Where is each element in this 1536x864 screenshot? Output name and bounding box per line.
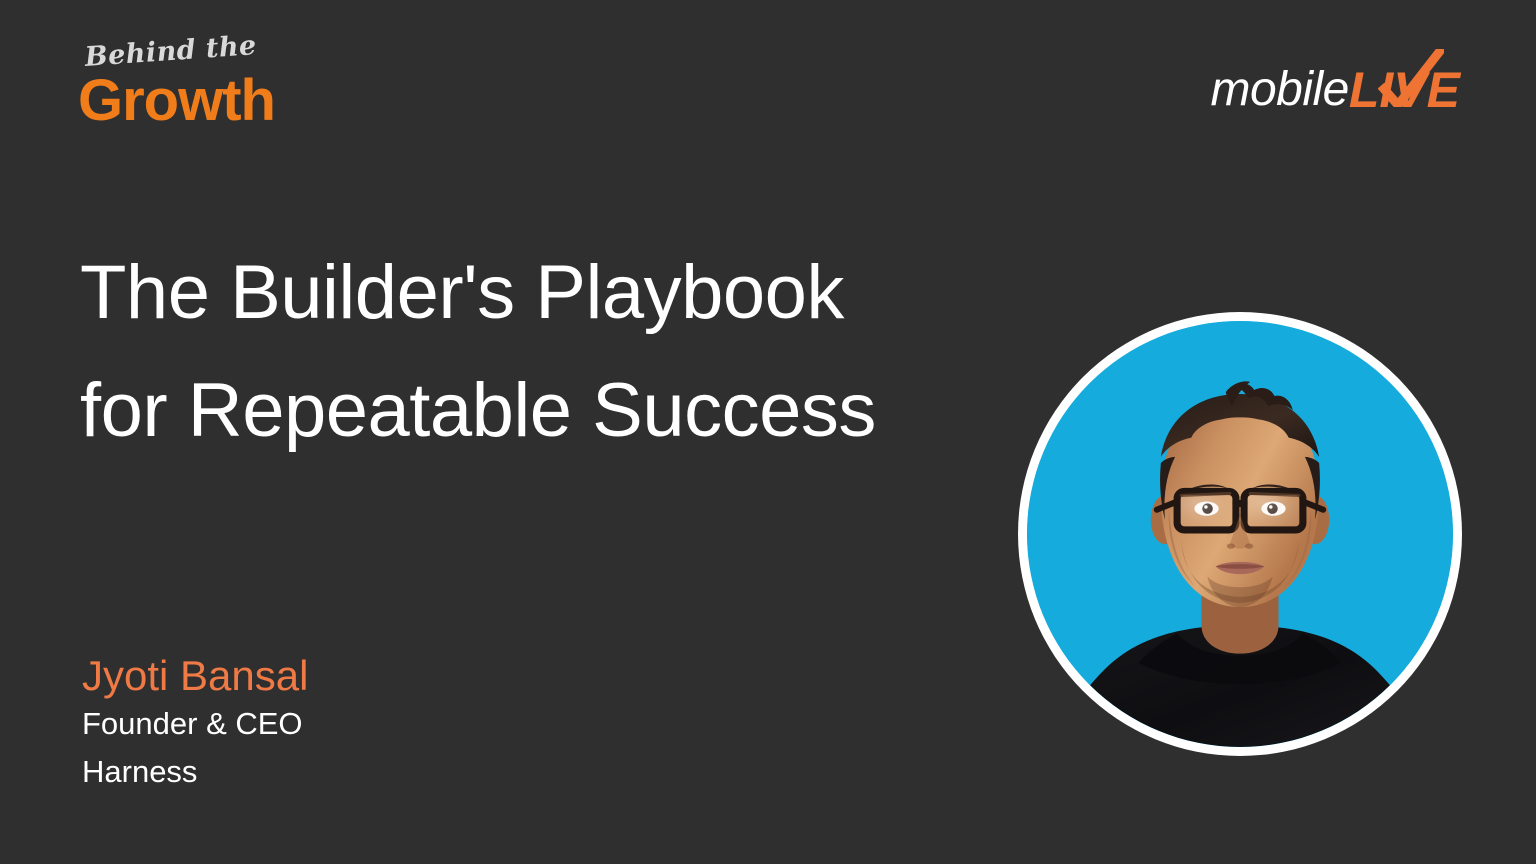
brand-logo-primary-text: mobile	[1210, 66, 1348, 114]
slide-title: The Builder's Playbook for Repeatable Su…	[80, 234, 1000, 470]
speaker-portrait	[1018, 312, 1462, 756]
slide-title-line-1: The Builder's Playbook	[80, 234, 1000, 352]
speaker-portrait-illustration	[1027, 321, 1453, 747]
presentation-slide: Behind the Growth mobile LIVE The Builde…	[0, 0, 1536, 864]
slide-title-line-2: for Repeatable Success	[80, 352, 1000, 470]
show-logo-script-text: Behind the	[84, 30, 258, 73]
speaker-info: Jyoti Bansal Founder & CEO Harness	[82, 652, 308, 796]
brand-logo-secondary-text: LIVE	[1349, 62, 1460, 118]
speaker-portrait-image	[1027, 321, 1453, 747]
brand-logo-live-group: LIVE	[1349, 65, 1460, 115]
brand-logo: mobile LIVE	[1210, 58, 1460, 122]
show-logo-main-text: Growth	[78, 72, 275, 130]
speaker-name: Jyoti Bansal	[82, 652, 308, 700]
speaker-role: Founder & CEO	[82, 700, 308, 748]
speaker-company: Harness	[82, 748, 308, 796]
show-logo: Behind the Growth	[78, 42, 338, 146]
